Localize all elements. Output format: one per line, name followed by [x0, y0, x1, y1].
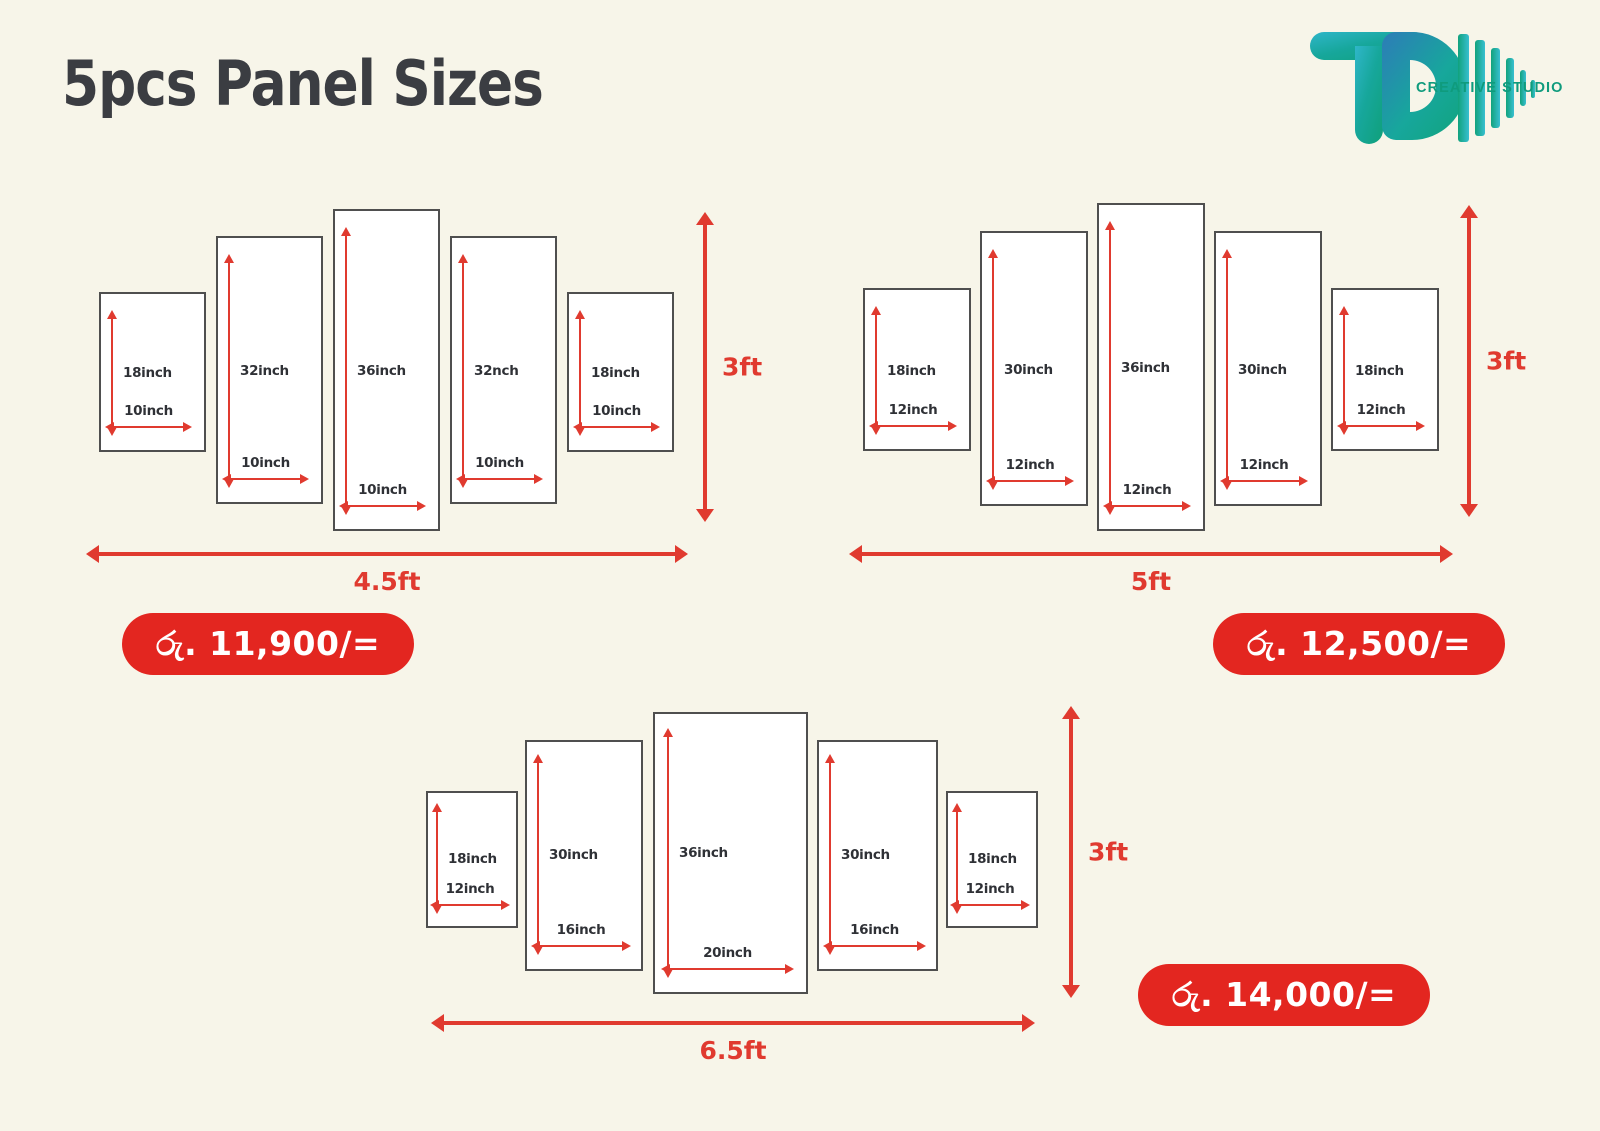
panel-g3-p5-width-measure: 12inch — [958, 880, 1022, 906]
panel-g1-p3-width-label: 10inch — [358, 482, 407, 498]
panel-g1-p5: 18inch 10inch — [567, 292, 674, 452]
panel-g2-p1: 18inch 12inch — [863, 288, 971, 451]
group-1-price-badge[interactable]: රු. 11,900/= — [122, 613, 414, 675]
panel-g2-p5-height-label: 18inch — [1355, 363, 1404, 379]
panel-g3-p2-width-label: 16inch — [557, 922, 606, 938]
panel-g1-p5-height-label: 18inch — [591, 365, 640, 381]
panel-g2-p4-height-label: 30inch — [1238, 362, 1287, 378]
panel-g2-p1-width-measure: 12inch — [877, 399, 949, 427]
panel-g1-p4-height-label: 32nch — [474, 363, 519, 379]
group-2-price-label: රු. 12,500/= — [1247, 624, 1471, 664]
arrow-right-icon — [1022, 1014, 1035, 1032]
panel-g2-p1-height-label: 18inch — [887, 363, 936, 379]
panel-g3-p2: 30inch 16inch — [525, 740, 643, 971]
group-3-price-label: රු. 14,000/= — [1172, 975, 1396, 1015]
panel-g2-p5: 18inch 12inch — [1331, 288, 1439, 451]
panel-g2-p3-height-label: 36inch — [1121, 360, 1170, 376]
group-2-overall-width-label: 5ft — [1131, 567, 1171, 596]
panel-g2-p3: 36inch 12inch — [1097, 203, 1205, 531]
panel-g1-p1-width-label: 10inch — [124, 403, 173, 419]
panel-g3-p3: 36inch 20inch — [653, 712, 808, 994]
group-1-price-label: රු. 11,900/= — [156, 624, 380, 664]
group-3-overall-height-label: 3ft — [1088, 838, 1128, 867]
panel-g3-p3-height-label: 36inch — [679, 845, 728, 861]
panel-g2-p4-width-label: 12inch — [1240, 457, 1289, 473]
logo-wordmark: CREATIVE STUDIO — [1416, 80, 1564, 96]
panel-g2-p4: 30inch 12inch — [1214, 231, 1322, 506]
panel-g2-p5-width-label: 12inch — [1357, 402, 1406, 418]
panel-g1-p2-width-label: 10inch — [241, 455, 290, 471]
group-2-overall-width-dimension: 5ft — [849, 551, 1453, 557]
panel-g3-p2-height-label: 30inch — [549, 847, 598, 863]
panel-g2-p2-height-label: 30inch — [1004, 362, 1053, 378]
panel-g2-p3-width-label: 12inch — [1123, 482, 1172, 498]
group-1-overall-width-label: 4.5ft — [353, 567, 420, 596]
panel-g3-p1-width-measure: 12inch — [438, 880, 502, 906]
panel-g1-p4: 32nch 10inch — [450, 236, 557, 504]
panel-g2-p2-width-label: 12inch — [1006, 457, 1055, 473]
panel-g2-p3-width-measure: 12inch — [1111, 479, 1183, 507]
panel-g1-p3: 36inch 10inch — [333, 209, 440, 531]
group-3-overall-width-dimension: 6.5ft — [431, 1020, 1035, 1026]
arrow-right-icon — [675, 545, 688, 563]
panel-g3-p1-width-label: 12inch — [446, 881, 495, 897]
panel-g1-p4-width-label: 10inch — [475, 455, 524, 471]
panel-g3-p5-width-label: 12inch — [966, 881, 1015, 897]
panel-g2-p5-width-measure: 12inch — [1345, 399, 1417, 427]
panel-g3-p2-width-measure: 16inch — [539, 919, 623, 947]
panel-g2-p2-width-measure: 12inch — [994, 454, 1066, 482]
panel-g1-p3-height-label: 36inch — [357, 363, 406, 379]
panel-g1-p1-width-measure: 10inch — [113, 400, 184, 428]
panel-g1-p3-width-measure: 10inch — [347, 479, 418, 507]
group-3-overall-height-dimension: 3ft — [1068, 706, 1074, 998]
panel-g2-p1-width-label: 12inch — [889, 402, 938, 418]
group-1-overall-height-label: 3ft — [722, 353, 762, 382]
brand-logo: CREATIVE STUDIO — [1310, 18, 1542, 158]
panel-g3-p5-height-label: 18inch — [968, 851, 1017, 867]
group-3-overall-width-label: 6.5ft — [699, 1036, 766, 1065]
panel-g3-p4-height-label: 30inch — [841, 847, 890, 863]
arrow-down-icon — [696, 509, 714, 522]
infographic-canvas: 5pcs Panel Sizes — [0, 0, 1600, 1131]
page-title: 5pcs Panel Sizes — [62, 47, 543, 120]
panel-g3-p3-width-label: 20inch — [703, 945, 752, 961]
group-1-overall-width-dimension: 4.5ft — [86, 551, 688, 557]
group-2-price-badge[interactable]: රු. 12,500/= — [1213, 613, 1505, 675]
panel-g3-p1-height-label: 18inch — [448, 851, 497, 867]
panel-g1-p2: 32inch 10inch — [216, 236, 323, 504]
panel-g1-p4-width-measure: 10inch — [464, 452, 535, 480]
panel-g1-p5-width-measure: 10inch — [581, 400, 652, 428]
panel-g1-p2-height-label: 32inch — [240, 363, 289, 379]
group-2-overall-height-label: 3ft — [1486, 347, 1526, 376]
panel-g1-p1: 18inch 10inch — [99, 292, 206, 452]
panel-g1-p5-width-label: 10inch — [592, 403, 641, 419]
group-1-overall-height-dimension: 3ft — [702, 212, 708, 522]
panel-g2-p2: 30inch 12inch — [980, 231, 1088, 506]
panel-g3-p3-width-measure: 20inch — [669, 942, 786, 970]
arrow-right-icon — [1440, 545, 1453, 563]
panel-g1-p1-height-label: 18inch — [123, 365, 172, 381]
panel-g3-p4-width-measure: 16inch — [831, 919, 918, 947]
panel-g3-p4-width-label: 16inch — [850, 922, 899, 938]
panel-g3-p1: 18inch 12inch — [426, 791, 518, 928]
panel-g2-p4-width-measure: 12inch — [1228, 454, 1300, 482]
group-2-overall-height-dimension: 3ft — [1466, 205, 1472, 517]
arrow-down-icon — [1460, 504, 1478, 517]
panel-g3-p4: 30inch 16inch — [817, 740, 938, 971]
panel-g3-p5: 18inch 12inch — [946, 791, 1038, 928]
group-3-price-badge[interactable]: රු. 14,000/= — [1138, 964, 1430, 1026]
panel-g1-p2-width-measure: 10inch — [230, 452, 301, 480]
arrow-down-icon — [1062, 985, 1080, 998]
